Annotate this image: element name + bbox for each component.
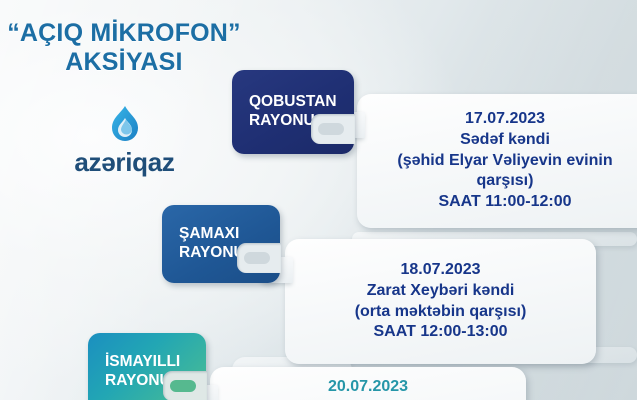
poster-title: “AÇIQ MİKROFON” AKSİYASI xyxy=(0,20,248,75)
event-time: SAAT 12:00-13:00 xyxy=(293,322,588,343)
connector-notch-icon xyxy=(163,371,207,400)
connector-notch-icon xyxy=(237,243,281,273)
region-name-line-1: ŞAMAXI xyxy=(162,225,280,244)
event-detail-cont: qarşısı) xyxy=(365,171,637,192)
event-card-qobustan[interactable]: 17.07.2023 Sədəf kəndi (şəhid Elyar Vəli… xyxy=(357,94,637,228)
event-card-samaxi[interactable]: 18.07.2023 Zarat Xeybəri kəndi (orta mək… xyxy=(285,239,596,364)
azeriqaz-logo: azəriqaz xyxy=(52,105,197,178)
event-date: 17.07.2023 xyxy=(365,109,637,130)
event-detail: (orta məktəbin qarşısı) xyxy=(293,302,588,323)
gas-flame-icon xyxy=(52,105,197,145)
region-badge-ismayilli[interactable]: İSMAYILLI RAYONU xyxy=(88,333,206,400)
brand-name: azəriqaz xyxy=(52,147,197,178)
event-date: 18.07.2023 xyxy=(293,260,588,281)
title-line-2: AKSİYASI xyxy=(0,49,248,75)
region-badge-qobustan[interactable]: QOBUSTAN RAYONU xyxy=(232,70,354,154)
event-time: SAAT 11:00-12:00 xyxy=(365,192,637,213)
event-detail: (şəhid Elyar Vəliyevin evinin xyxy=(365,151,637,172)
event-date: 20.07.2023 xyxy=(218,377,518,398)
event-place: Sədəf kəndi xyxy=(365,130,637,151)
event-card-ismayilli[interactable]: 20.07.2023 xyxy=(210,367,526,400)
poster-canvas: “AÇIQ MİKROFON” AKSİYASI azəriqaz QOBU xyxy=(0,0,637,400)
event-place: Zarat Xeybəri kəndi xyxy=(293,281,588,302)
region-name-line-1: QOBUSTAN xyxy=(232,93,354,112)
region-badge-samaxi[interactable]: ŞAMAXI RAYONU xyxy=(162,205,280,283)
title-line-1: “AÇIQ MİKROFON” xyxy=(0,20,248,46)
connector-notch-icon xyxy=(311,114,355,144)
region-name-line-1: İSMAYILLI xyxy=(88,353,206,372)
